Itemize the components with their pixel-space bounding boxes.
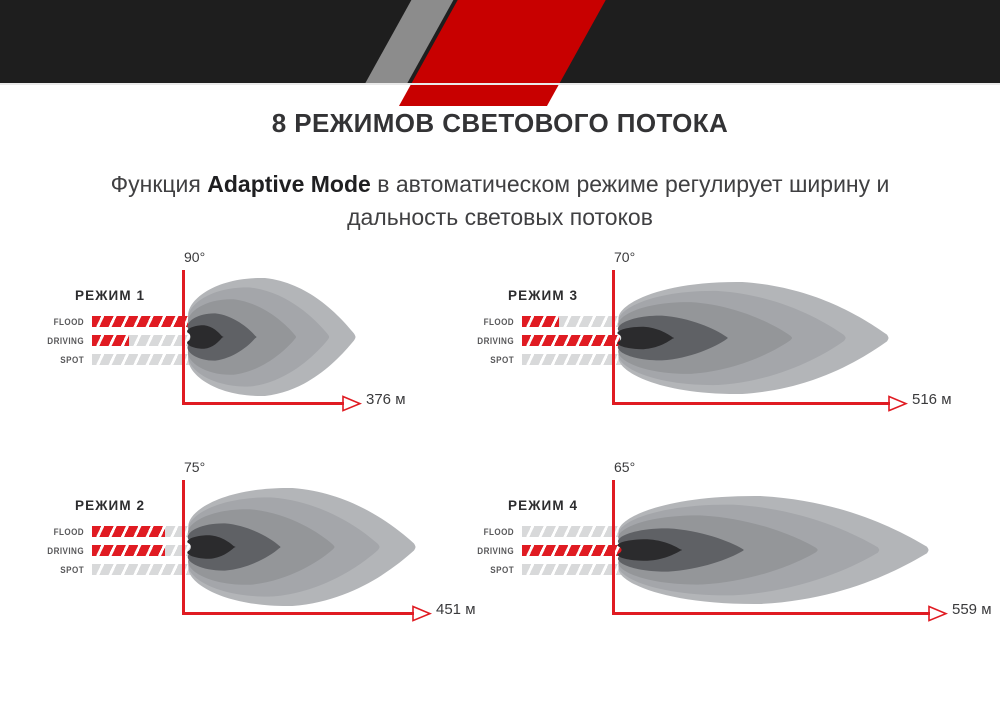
- mode-title: РЕЖИМ 1: [75, 288, 145, 303]
- vertical-axis: [612, 480, 615, 612]
- infographic-page: 8 РЕЖИМОВ СВЕТОВОГО ПОТОКА Функция Adapt…: [0, 0, 1000, 707]
- header-banner: [0, 0, 1000, 83]
- beam-pattern: [617, 496, 945, 614]
- mode-title: РЕЖИМ 2: [75, 498, 145, 513]
- subtitle-text-after: в автоматическом режиме регулирует ширин…: [347, 171, 889, 230]
- bar-label-flood: FLOOD: [37, 317, 92, 327]
- subtitle-text-before: Функция: [111, 171, 208, 197]
- subtitle-highlight: Adaptive Mode: [207, 171, 371, 197]
- angle-label: 65°: [614, 459, 635, 475]
- bar-label-flood: FLOOD: [467, 527, 522, 537]
- vertical-axis: [612, 270, 615, 402]
- bar-label-driving: DRIVING: [467, 546, 522, 556]
- mode-title: РЕЖИМ 4: [508, 498, 578, 513]
- angle-label: 70°: [614, 249, 635, 265]
- page-title: 8 РЕЖИМОВ СВЕТОВОГО ПОТОКА: [0, 108, 1000, 139]
- bar-label-spot: SPOT: [467, 565, 522, 575]
- distance-label: 451 м: [436, 601, 476, 618]
- bar-label-flood: FLOOD: [37, 527, 92, 537]
- distance-label: 559 м: [952, 601, 992, 618]
- bar-label-driving: DRIVING: [37, 336, 92, 346]
- mode-title: РЕЖИМ 3: [508, 288, 578, 303]
- vertical-axis: [182, 480, 185, 612]
- banner-underline: [0, 83, 1000, 85]
- bar-label-flood: FLOOD: [467, 317, 522, 327]
- bar-label-spot: SPOT: [37, 355, 92, 365]
- beam-pattern: [187, 488, 432, 616]
- angle-label: 90°: [184, 249, 205, 265]
- angle-label: 75°: [184, 459, 205, 475]
- beam-pattern: [617, 282, 905, 404]
- bar-label-spot: SPOT: [37, 565, 92, 575]
- bar-label-spot: SPOT: [467, 355, 522, 365]
- vertical-axis: [182, 270, 185, 402]
- beam-pattern: [187, 278, 372, 406]
- bar-label-driving: DRIVING: [37, 546, 92, 556]
- bar-label-driving: DRIVING: [467, 336, 522, 346]
- distance-label: 516 м: [912, 391, 952, 408]
- page-subtitle: Функция Adaptive Mode в автоматическом р…: [90, 168, 910, 234]
